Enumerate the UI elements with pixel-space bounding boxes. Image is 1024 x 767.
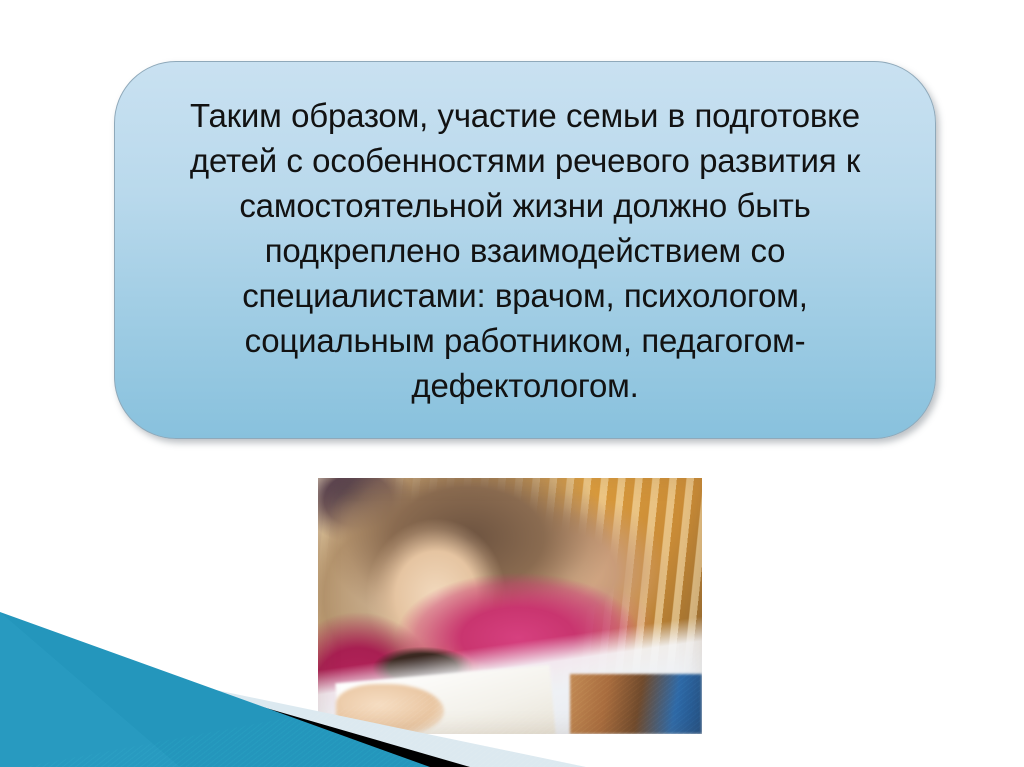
teal-wedge-shade [0, 612, 180, 767]
slide-canvas: Таким образом, участие семьи в подготовк… [0, 0, 1024, 767]
callout-paragraph: Таким образом, участие семьи в подготовк… [127, 93, 923, 408]
photo-hand [336, 684, 444, 734]
text-callout-shape: Таким образом, участие семьи в подготовк… [114, 61, 936, 439]
photo-inset-image [570, 674, 702, 734]
photo-girl-reading [318, 478, 702, 734]
